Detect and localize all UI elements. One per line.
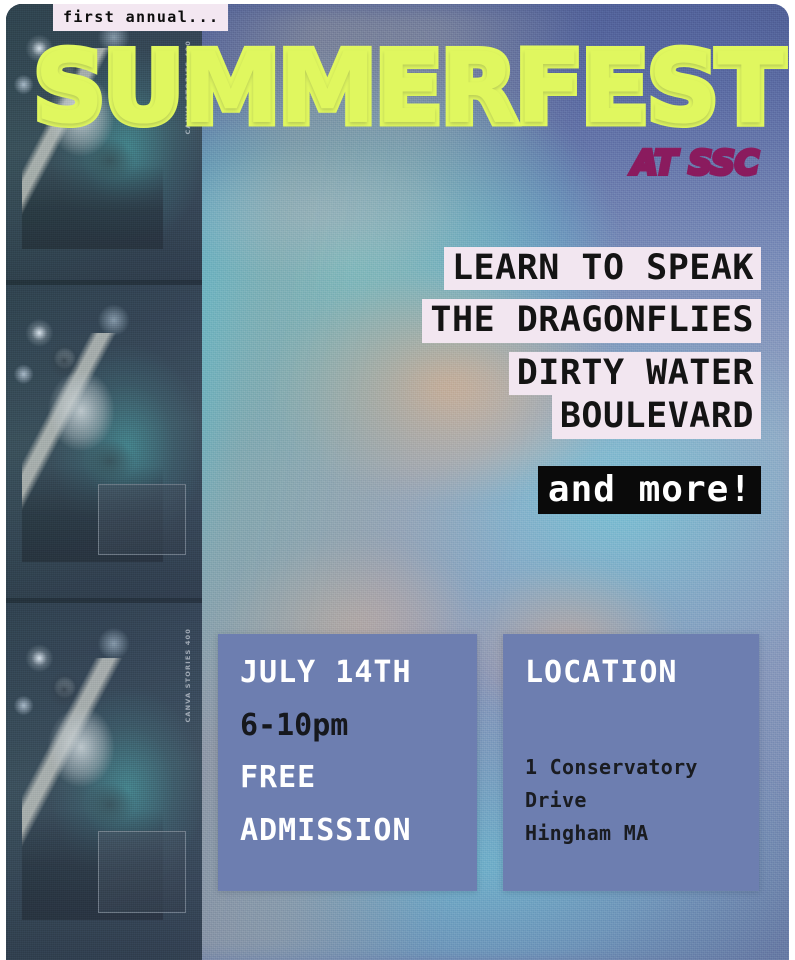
list-item: THE DRAGONFLIES — [422, 299, 761, 342]
list-item: DIRTY WATER — [509, 352, 761, 395]
poster-artboard: CANVA STORIES 400 CANVA STORIES 400 firs… — [6, 4, 789, 960]
address-line-2: Drive — [525, 790, 759, 810]
headline-suffix: AT SSC — [632, 146, 759, 179]
admission-price: FREE — [240, 763, 477, 794]
address-line-3: Hingham MA — [525, 823, 759, 843]
list-item: BOULEVARD — [552, 395, 761, 438]
filmstrip-frame-bottom — [6, 600, 202, 960]
location-heading: LOCATION — [525, 658, 759, 689]
amplifier-cabinet — [98, 831, 186, 913]
lineup-list: LEARN TO SPEAK THE DRAGONFLIES DIRTY WAT… — [161, 247, 761, 514]
filmstrip-divider — [6, 598, 202, 603]
kicker-tag: first annual... — [53, 4, 228, 31]
page-title: SUMMERFEST — [34, 42, 783, 136]
admission-label: ADMISSION — [240, 816, 477, 847]
event-date: JULY 14TH — [240, 658, 477, 689]
and-more-badge: and more! — [538, 466, 761, 514]
list-item: LEARN TO SPEAK — [444, 247, 761, 290]
address-line-1: 1 Conservatory — [525, 757, 759, 777]
date-info-box: JULY 14TH 6-10pm FREE ADMISSION — [218, 634, 477, 891]
event-time: 6-10pm — [240, 711, 477, 742]
location-info-box: LOCATION 1 Conservatory Drive Hingham MA — [503, 634, 759, 891]
poster-root: CANVA STORIES 400 CANVA STORIES 400 firs… — [0, 0, 795, 960]
